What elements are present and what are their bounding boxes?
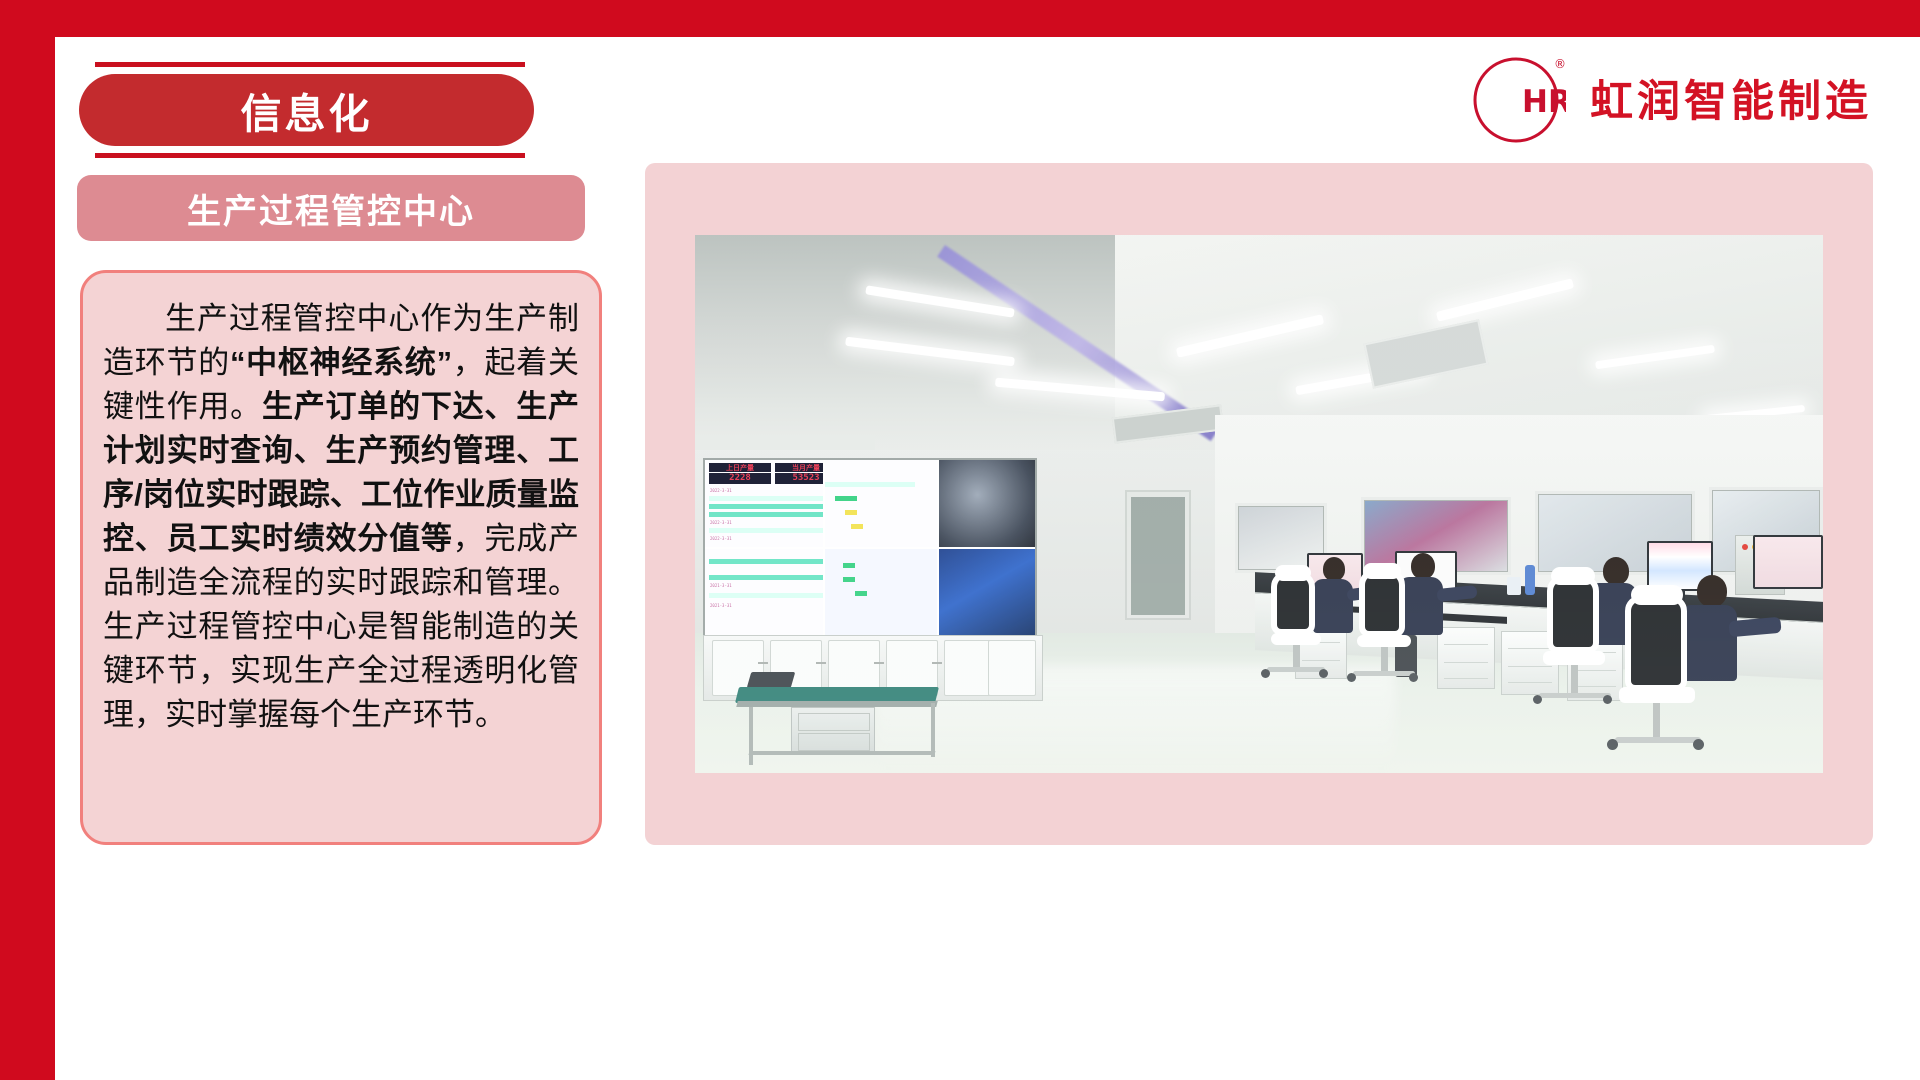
hr-logo-icon: HR ® bbox=[1470, 50, 1566, 146]
chair-post bbox=[1293, 645, 1300, 669]
operator-head bbox=[1323, 557, 1345, 581]
chair-caster bbox=[1409, 673, 1418, 682]
chair-post bbox=[1381, 647, 1388, 673]
video-wall-blank-panel bbox=[825, 549, 937, 636]
description-paragraph: 生产过程管控中心作为生产制造环节的“中枢神经系统”，起着关键性作用。生产订单的下… bbox=[103, 297, 579, 737]
office-chair bbox=[1625, 595, 1687, 691]
chair-caster bbox=[1533, 695, 1542, 704]
operator-body bbox=[1313, 579, 1353, 633]
desk-pedestal bbox=[1437, 627, 1495, 689]
operator-head bbox=[1411, 553, 1435, 579]
video-wall-gantt-panel: 上日产量 当月产量 2228 53523 2022-3-31 2022-3-31… bbox=[705, 460, 823, 547]
chair-headrest bbox=[1275, 565, 1311, 581]
video-wall-schedule-panel bbox=[825, 460, 937, 547]
chair-caster bbox=[1693, 739, 1704, 750]
chair-base bbox=[1267, 667, 1325, 672]
brand-name: 虹润智能制造 bbox=[1590, 67, 1872, 129]
section-title-pill: 信息化 bbox=[79, 74, 534, 146]
bench-leg bbox=[749, 707, 753, 765]
bench-leg bbox=[931, 703, 935, 757]
svg-text:®: ® bbox=[1554, 57, 1566, 71]
chair-caster bbox=[1607, 739, 1618, 750]
workbench-drawers bbox=[791, 707, 875, 753]
kpi-value: 53523 bbox=[775, 473, 823, 484]
kpi-label: 上日产量 bbox=[709, 463, 771, 472]
operator-head bbox=[1603, 557, 1629, 585]
chair-base bbox=[1539, 693, 1611, 698]
doorway-opening bbox=[1131, 497, 1185, 615]
chair-seat bbox=[1619, 687, 1695, 703]
svg-text:HR: HR bbox=[1522, 84, 1566, 120]
title-rule-top bbox=[95, 62, 525, 67]
brand-lockup: HR ® 虹润智能制造 bbox=[1470, 50, 1872, 146]
bench-rail bbox=[749, 751, 936, 755]
subtitle-banner: 生产过程管控中心 bbox=[77, 175, 585, 241]
desk-cup bbox=[1507, 577, 1521, 595]
operator-body bbox=[1399, 577, 1443, 635]
chair-seat bbox=[1543, 651, 1605, 665]
chair-caster bbox=[1603, 695, 1612, 704]
video-wall: 上日产量 当月产量 2228 53523 2022-3-31 2022-3-31… bbox=[705, 460, 1035, 635]
subtitle-label: 生产过程管控中心 bbox=[187, 184, 475, 233]
chair-post bbox=[1653, 703, 1660, 739]
frame-left-bar bbox=[0, 0, 55, 1080]
water-bottle bbox=[1525, 565, 1535, 595]
chair-headrest bbox=[1631, 585, 1683, 605]
office-chair bbox=[1547, 575, 1599, 653]
chair-headrest bbox=[1363, 563, 1401, 579]
chair-post bbox=[1571, 665, 1578, 695]
video-wall-camera-feed-2 bbox=[939, 549, 1035, 636]
monitor bbox=[1753, 535, 1823, 589]
chair-base bbox=[1615, 737, 1701, 743]
chair-seat bbox=[1357, 635, 1411, 647]
chair-caster bbox=[1319, 669, 1328, 678]
laptop bbox=[747, 672, 796, 688]
kpi-value: 2228 bbox=[709, 473, 771, 484]
description-card: 生产过程管控中心作为生产制造环节的“中枢神经系统”，起着关键性作用。生产订单的下… bbox=[80, 270, 602, 845]
office-chair bbox=[1359, 569, 1405, 637]
photo-panel: 上日产量 当月产量 2228 53523 2022-3-31 2022-3-31… bbox=[645, 163, 1873, 845]
kpi-label: 当月产量 bbox=[775, 463, 823, 472]
title-rule-bottom bbox=[95, 153, 525, 158]
chair-caster bbox=[1347, 673, 1356, 682]
control-room-photo: 上日产量 当月产量 2228 53523 2022-3-31 2022-3-31… bbox=[695, 235, 1823, 773]
video-wall-camera-feed bbox=[939, 460, 1035, 547]
chair-seat bbox=[1271, 633, 1321, 645]
video-wall-gantt-panel-lower: 2021-3-31 2021-3-31 bbox=[705, 549, 823, 636]
page-title: 信息化 bbox=[241, 80, 373, 140]
chair-caster bbox=[1261, 669, 1270, 678]
frame-top-bar bbox=[0, 0, 1920, 37]
operator-head bbox=[1697, 575, 1727, 607]
section-title-block: 信息化 bbox=[95, 62, 525, 158]
chair-headrest bbox=[1551, 567, 1595, 585]
operator-body bbox=[1681, 605, 1737, 681]
chair-base bbox=[1353, 671, 1415, 676]
